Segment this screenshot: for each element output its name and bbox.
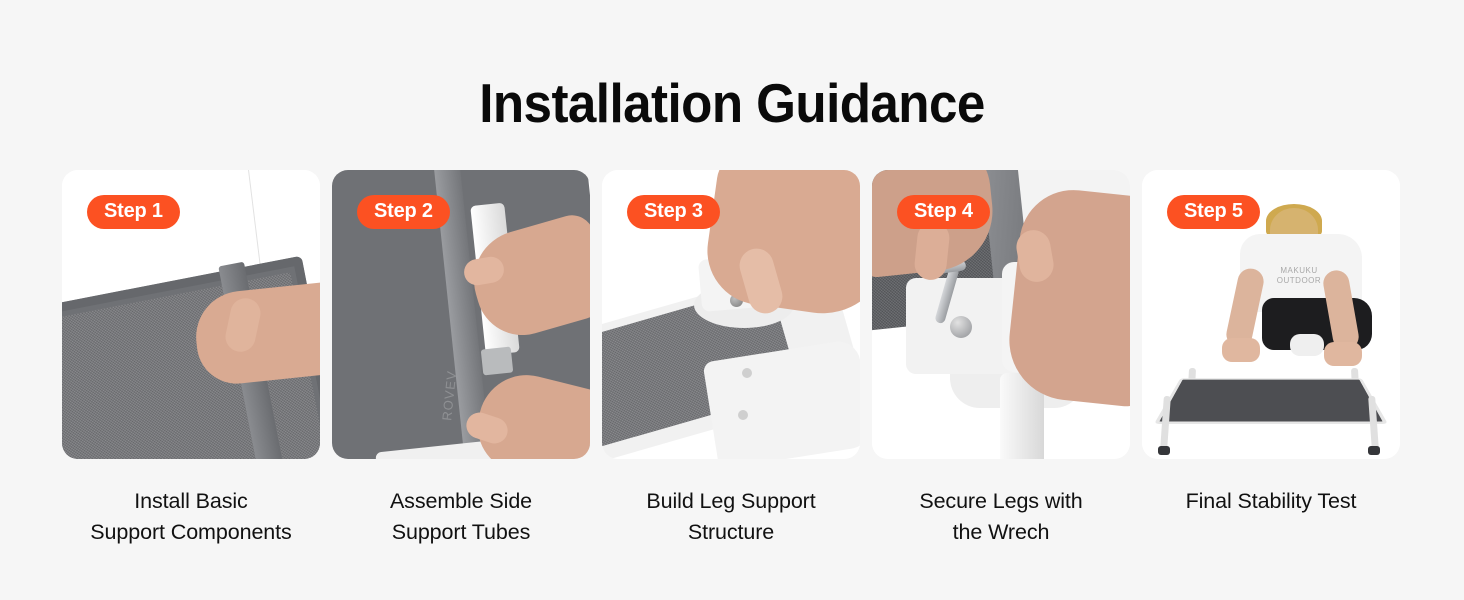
step-item-2: ROVEV Step 2 Assemble Side Support Tubes	[332, 170, 590, 547]
step-caption-1: Install Basic Support Components	[56, 486, 326, 547]
installation-guidance-page: Installation Guidance Step 1 Install Bas…	[0, 0, 1464, 600]
step-caption-2-line2: Support Tubes	[326, 517, 596, 548]
step-badge-3: Step 3	[627, 195, 720, 229]
step-item-3: Step 3 Build Leg Support Structure	[602, 170, 860, 547]
step-caption-5: Final Stability Test	[1136, 486, 1406, 517]
step-caption-1-line2: Support Components	[56, 517, 326, 548]
bed-foot-left	[1158, 446, 1170, 455]
step-badge-5: Step 5	[1167, 195, 1260, 229]
person-shoe	[1290, 334, 1324, 356]
step-card-2[interactable]: ROVEV Step 2	[332, 170, 590, 459]
step-caption-2: Assemble Side Support Tubes	[326, 486, 596, 547]
step-card-1[interactable]: Step 1	[62, 170, 320, 459]
step-caption-5-line1: Final Stability Test	[1136, 486, 1406, 517]
step-badge-2: Step 2	[357, 195, 450, 229]
step-caption-4-line2: the Wrech	[866, 517, 1136, 548]
step-item-4: Step 4 Secure Legs with the Wrech	[872, 170, 1130, 547]
step-card-3[interactable]: Step 3	[602, 170, 860, 459]
step-badge-1: Step 1	[87, 195, 180, 229]
screw-hole	[738, 410, 748, 420]
steps-row: Step 1 Install Basic Support Components …	[62, 170, 1402, 547]
step-badge-4: Step 4	[897, 195, 990, 229]
step-caption-3: Build Leg Support Structure	[596, 486, 866, 547]
screw-hole	[742, 368, 752, 378]
page-title: Installation Guidance	[51, 76, 1413, 131]
step-caption-3-line1: Build Leg Support	[596, 486, 866, 517]
step-item-1: Step 1 Install Basic Support Components	[62, 170, 320, 547]
tube-end-connector	[481, 347, 514, 376]
screw-icon	[950, 316, 972, 338]
step-caption-4: Secure Legs with the Wrech	[866, 486, 1136, 547]
assembled-bed-top	[1154, 378, 1388, 424]
bed-foot-right	[1368, 446, 1380, 455]
step-card-4[interactable]: Step 4	[872, 170, 1130, 459]
step-caption-1-line1: Install Basic	[56, 486, 326, 517]
step-caption-4-line1: Secure Legs with	[866, 486, 1136, 517]
step-card-5[interactable]: MAKUKU OUTDOOR Step 5	[1142, 170, 1400, 459]
step-caption-2-line1: Assemble Side	[326, 486, 596, 517]
hand-icon	[1324, 342, 1362, 366]
step-caption-3-line2: Structure	[596, 517, 866, 548]
hand-icon	[1222, 338, 1260, 362]
step-item-5: MAKUKU OUTDOOR Step 5	[1142, 170, 1400, 547]
